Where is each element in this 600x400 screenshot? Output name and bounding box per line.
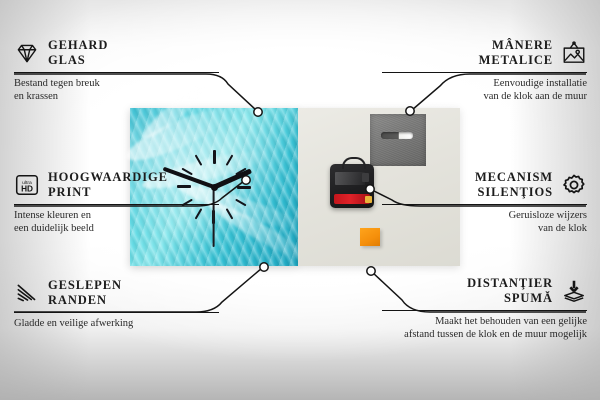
feature-divider [14,204,219,205]
clock-mechanism [330,164,374,208]
gear-icon [561,172,587,198]
picture-frame-hanging-icon [561,40,587,66]
diamond-icon [14,40,40,66]
mechanism-hook [342,157,366,169]
feature-title: GESLEPEN RANDEN [48,278,122,308]
feature-header: MÂNERE METALICE [382,38,587,68]
feature-manere-metalice: MÂNERE METALICE Eenvoudige installatie v… [382,38,587,103]
feature-title: HOOGWAARDIGE PRINT [48,170,168,200]
feature-description: Intense kleuren en een duidelijk beeld [14,209,219,235]
feature-divider [14,72,219,73]
infographic-canvas: GEHARD GLAS Bestand tegen breuk en krass… [0,0,600,400]
feature-title: DISTANŢIER SPUMĂ [467,276,553,306]
feature-header: MECANISM SILENŢIOS [382,170,587,200]
feature-title: GEHARD GLAS [48,38,108,68]
feature-divider [382,204,587,205]
feature-divider [14,312,219,313]
battery-terminal [365,196,372,203]
mechanism-label [335,172,365,185]
feature-description: Gladde en veilige afwerking [14,317,219,330]
feature-description: Eenvoudige installatie van de klok aan d… [382,77,587,103]
feature-divider [382,310,587,311]
foam-spacer [360,228,380,246]
feature-mecanism-silentios: MECANISM SILENŢIOS Geruisloze wijzers va… [382,170,587,235]
feature-header: GESLEPEN RANDEN [14,278,219,308]
foam-spacer-press-icon [561,278,587,304]
metal-hanger-plate [370,114,426,166]
feature-header: GEHARD GLAS [14,38,219,68]
feature-distantier-spuma: DISTANŢIER SPUMĂ Maakt het behouden van … [382,276,587,341]
feature-description: Geruisloze wijzers van de klok [382,209,587,235]
beveled-edges-icon [14,280,40,306]
mechanism-chip [362,173,369,182]
feature-title: MÂNERE METALICE [479,38,553,68]
feature-hoogwaardige-print: ultra HD HOOGWAARDIGE PRINT Intense kleu… [14,170,219,235]
feature-description: Maakt het behouden van een gelijke afsta… [382,315,587,341]
feature-gehard-glas: GEHARD GLAS Bestand tegen breuk en krass… [14,38,219,103]
feature-title: MECANISM SILENŢIOS [475,170,553,200]
feature-description: Bestand tegen breuk en krassen [14,77,219,103]
feature-header: ultra HD HOOGWAARDIGE PRINT [14,170,219,200]
feature-header: DISTANŢIER SPUMĂ [382,276,587,306]
feature-geslepen-randen: GESLEPEN RANDEN Gladde en veilige afwerk… [14,278,219,330]
hanger-keyhole-slot [381,132,413,139]
svg-text:HD: HD [21,185,33,194]
feature-divider [382,72,587,73]
ultra-hd-badge-icon: ultra HD [14,172,40,198]
